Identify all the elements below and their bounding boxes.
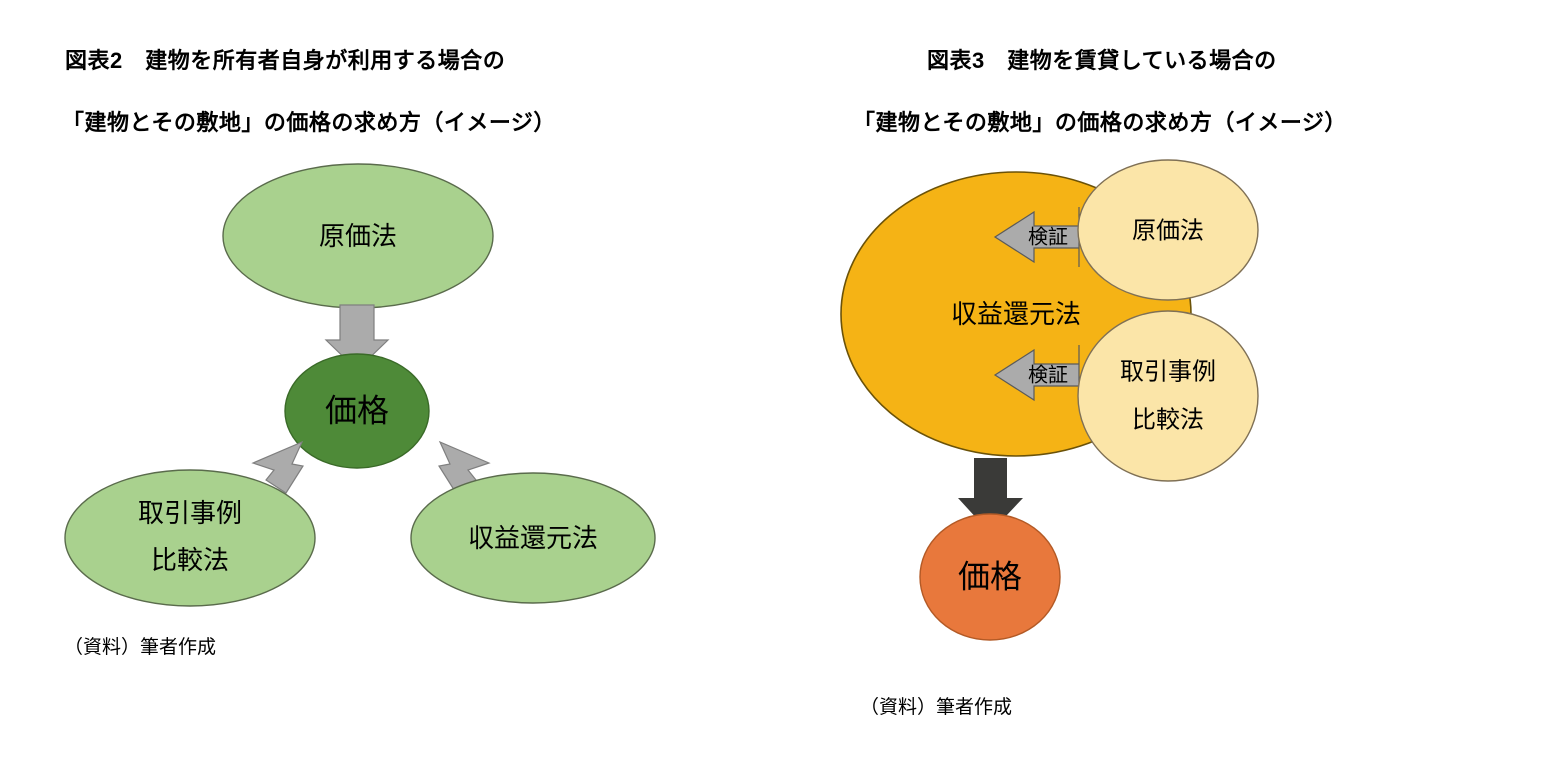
arrow-verify-bottom-label: 検証 (1028, 363, 1068, 386)
node-price: 価格 (285, 354, 429, 468)
node-income-approach-main-label: 収益還元法 (951, 299, 1081, 329)
node-result-price: 価格 (920, 514, 1060, 640)
node-cost-approach-check-label: 原価法 (1132, 217, 1204, 244)
figure-panel-left: 図表2 建物を所有者自身が利用する場合の 「建物とその敷地」の価格の求め方（イメ… (0, 0, 776, 763)
node-sales-comparison-check-label-line1: 取引事例 (1120, 358, 1216, 385)
node-sales-comparison-label-line2: 比較法 (151, 545, 229, 575)
node-sales-comparison-label-line1: 取引事例 (138, 498, 242, 528)
node-sales-comparison: 取引事例 比較法 (65, 470, 315, 606)
node-sales-comparison-shape (65, 470, 315, 606)
node-result-price-label: 価格 (958, 558, 1022, 594)
figure-left-source-note: （資料）筆者作成 (64, 632, 216, 659)
figure-right-source-note: （資料）筆者作成 (860, 692, 1012, 719)
node-cost-approach-label: 原価法 (319, 221, 397, 251)
node-cost-approach-check: 原価法 (1078, 160, 1258, 300)
node-income-approach-label: 収益還元法 (468, 523, 598, 553)
figure-panel-right: 図表3 建物を賃貸している場合の 「建物とその敷地」の価格の求め方（イメージ） … (776, 0, 1553, 763)
arrow-verify-top-label: 検証 (1028, 225, 1068, 248)
node-sales-comparison-check-shape (1078, 311, 1258, 481)
node-income-approach: 収益還元法 (411, 473, 655, 603)
node-sales-comparison-check-label-line2: 比較法 (1132, 406, 1204, 433)
node-cost-approach: 原価法 (223, 164, 493, 308)
figure-right-diagram: 収益還元法 検証 原価法 検証 取引事例 比較法 価 (776, 0, 1553, 763)
node-price-label: 価格 (325, 392, 389, 428)
node-sales-comparison-check: 取引事例 比較法 (1078, 311, 1258, 481)
